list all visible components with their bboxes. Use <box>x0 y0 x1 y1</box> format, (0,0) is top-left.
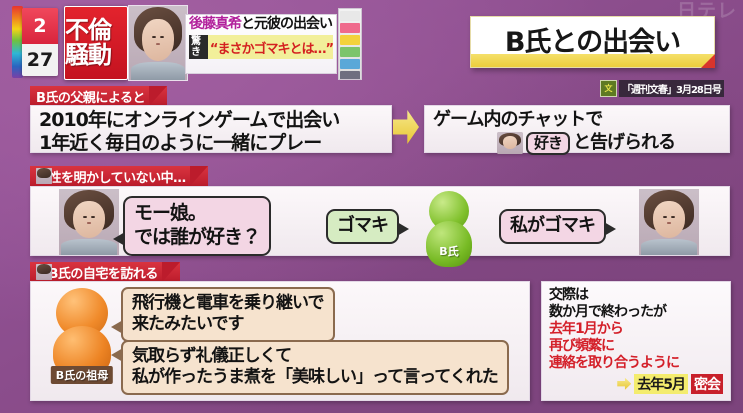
eye-right <box>671 216 675 218</box>
torso-shape <box>61 239 116 255</box>
section3-mini-photo <box>36 264 52 280</box>
summary-line3: 去年1月から <box>549 321 723 338</box>
scandal-badge: 不倫騒動 <box>64 6 128 80</box>
scandal-badge-text: 不倫騒動 <box>65 18 127 69</box>
section3-quote2-line1: 気取らず礼儀正しくて <box>132 346 498 367</box>
magazine-logo-icon: 文 <box>600 80 617 97</box>
goto-portrait-right <box>639 189 699 255</box>
section3-label-text: がB氏の自宅を訪れる <box>36 263 158 282</box>
eye-left <box>152 36 156 38</box>
portrait-art <box>639 189 699 255</box>
source-text: 「週刊文春」3月28日号 <box>619 80 724 97</box>
headline-block: 後藤真希と元彼の出会い 驚き “まさかゴマキとは…” <box>185 14 337 74</box>
section2-answer-bubble: ゴマキ <box>326 209 399 244</box>
portrait-art <box>36 264 52 280</box>
torso-shape <box>131 62 184 80</box>
section2-question-bubble: モー娘。 では誰が好き？ <box>123 196 271 256</box>
headline-name: 後藤真希 <box>189 16 241 32</box>
torso-shape <box>641 239 696 255</box>
section2-question-line2: では誰が好き？ <box>134 226 260 250</box>
eye-left <box>83 216 87 218</box>
summary-footer-date: 去年5月 <box>634 374 688 394</box>
bubble-tail <box>111 320 123 334</box>
face-shape <box>653 201 685 238</box>
summary-line4: 再び頻繁に <box>549 338 723 355</box>
grandmother-figure-label: B氏の祖母 <box>51 366 113 384</box>
section2-label: 素性を明かしていない中… <box>30 166 208 186</box>
date-day: 27 <box>22 44 58 76</box>
strip-band-3 <box>340 35 360 45</box>
strip-band-6 <box>340 71 360 80</box>
headline-quote-row: 驚き “まさかゴマキとは…” <box>189 35 333 59</box>
section2-question-line1: モー娘。 <box>134 202 260 226</box>
section1-right-panel: ゲーム内のチャットで 好き と告げられる <box>424 105 730 153</box>
bubble-tail <box>111 348 123 362</box>
summary-line5: 連絡を取り合うように <box>549 355 723 372</box>
face-shape <box>73 201 105 238</box>
strip-band-1 <box>340 11 360 21</box>
section2-answer-text: ゴマキ <box>337 215 388 236</box>
mouth-shape <box>87 222 92 223</box>
section2-label-text: 素性を明かしていない中… <box>36 167 186 186</box>
section2-mini-photo <box>36 168 52 184</box>
section2-panel: モー娘。 では誰が好き？ ゴマキ B氏 私がゴマキ <box>30 186 730 256</box>
page-title: B氏との出会い <box>470 16 715 68</box>
magazine-cover-strip <box>338 8 362 80</box>
hair-shape <box>37 264 50 274</box>
broadcast-screen: 日テレ 2 27 不倫騒動 後藤真希と元彼の出会い 驚き “まさかゴマキとは…” <box>0 0 743 413</box>
strip-band-5 <box>340 59 360 69</box>
mouth-shape <box>156 43 160 45</box>
section1-right-row: 好き と告げられる <box>497 132 721 155</box>
strip-band-4 <box>340 47 360 57</box>
page-title-text: B氏との出会い <box>505 20 680 59</box>
eye-right <box>160 36 164 38</box>
person-b-figure-label: B氏 <box>439 243 458 259</box>
goto-portrait-left <box>59 189 119 255</box>
section1-line1: 2010年にオンラインゲームで出会い <box>39 109 383 132</box>
section2-reveal-text: 私がゴマキ <box>510 215 595 236</box>
headline-rest: と元彼の出会い <box>241 16 332 32</box>
face-shape <box>503 136 517 148</box>
summary-line1: 交際は <box>549 287 723 304</box>
headline-main: 後藤真希と元彼の出会い <box>189 17 333 32</box>
top-presenter-photo <box>128 5 188 81</box>
section1-liked-bubble: 好き <box>526 132 570 155</box>
section3-quote2-line2: 私が作ったうま煮を「美味しい」って言ってくれた <box>132 367 498 388</box>
summary-footer-tag: 密会 <box>691 374 723 394</box>
source-credit: 文 「週刊文春」3月28日号 <box>600 80 724 97</box>
portrait-art <box>129 6 187 80</box>
strip-band-2 <box>340 23 360 33</box>
portrait-art <box>36 168 52 184</box>
section3-quote2-bubble: 気取らず礼儀正しくて 私が作ったうま煮を「美味しい」って言ってくれた <box>121 340 509 395</box>
section3-panel: B氏の祖母 飛行機と電車を乗り継いで 来たみたいです 気取らず礼儀正しくて 私が… <box>30 281 530 401</box>
eye-left <box>663 216 667 218</box>
section1-left-panel: 2010年にオンラインゲームで出会い 1年近く毎日のように一緒にプレー <box>30 105 392 153</box>
summary-line2: 数か月で終わったが <box>549 304 723 321</box>
portrait-art <box>497 132 523 154</box>
section3-quote1-line1: 飛行機と電車を乗り継いで <box>132 293 324 314</box>
hair-shape <box>37 168 50 178</box>
summary-footer: 去年5月 密会 <box>549 374 723 394</box>
bubble-tail <box>113 232 125 246</box>
goto-thumb-small <box>497 132 523 154</box>
mouth-shape <box>667 222 672 223</box>
bubble-tail <box>604 222 616 236</box>
date-box: 2 27 <box>22 8 58 76</box>
face-shape <box>142 19 173 60</box>
section1-label-text: B氏の父親によると <box>36 87 145 106</box>
section1-label: B氏の父親によると <box>30 86 167 106</box>
section1-right-line2: と告げられる <box>573 132 675 154</box>
eye-right <box>91 216 95 218</box>
grandmother-figure: B氏の祖母 <box>53 288 111 384</box>
section1-line2: 1年近く毎日のように一緒にプレー <box>39 132 383 155</box>
section3-quote1-bubble: 飛行機と電車を乗り継いで 来たみたいです <box>121 287 335 342</box>
date-month: 2 <box>22 8 58 44</box>
summary-arrow-icon <box>617 378 631 390</box>
relationship-summary-panel: 交際は 数か月で終わったが 去年1月から 再び頻繁に 連絡を取り合うように 去年… <box>541 281 731 401</box>
headline-quote: “まさかゴマキとは…” <box>210 38 333 57</box>
section2-reveal-bubble: 私がゴマキ <box>499 209 606 244</box>
portrait-art <box>59 189 119 255</box>
person-b-figure: B氏 <box>426 191 472 269</box>
section1-right-line1: ゲーム内のチャットで <box>433 109 721 131</box>
section3-quote1-line2: 来たみたいです <box>132 314 324 335</box>
flow-arrow-icon <box>393 110 419 144</box>
headline-tag: 驚き <box>189 35 208 59</box>
section3-label: がB氏の自宅を訪れる <box>30 262 180 282</box>
bubble-tail <box>397 222 409 236</box>
